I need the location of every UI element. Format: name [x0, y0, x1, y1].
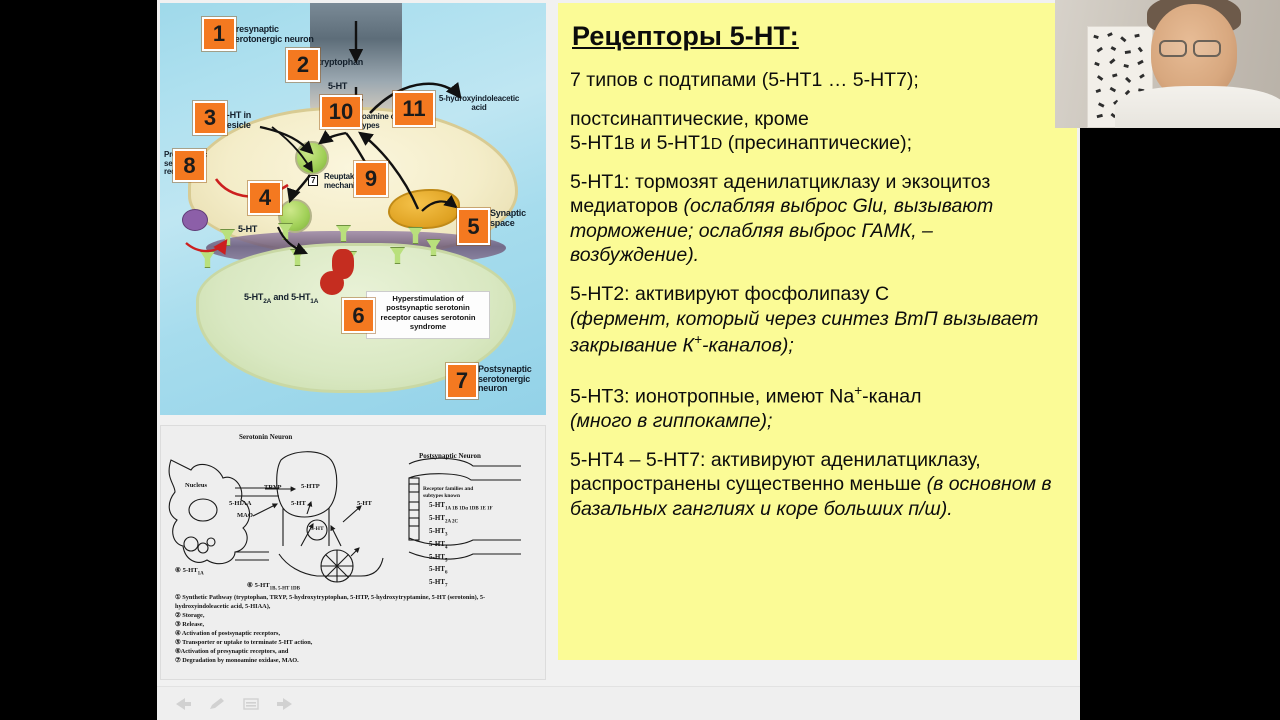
label-tryptophan: L-tryptophan	[310, 58, 394, 68]
slide-text-panel: Рецепторы 5-НТ: 7 типов с подтипами (5-Н…	[558, 3, 1077, 660]
p-5ht2-italic-tail: -каналов);	[702, 335, 794, 357]
receptor-b	[200, 251, 215, 268]
legend-line-3: ③ Release,	[175, 621, 527, 630]
receptor-item-5: 5-HT5	[429, 552, 493, 565]
receptor-item-2: 5-HT2A 2C	[429, 513, 493, 526]
postsyn-5ht1b: 5-НТ1	[570, 132, 624, 154]
diagram-badge-4[interactable]: 4	[248, 181, 282, 215]
5ht-label-a: 5-HT	[291, 500, 306, 507]
postsyn-sub-b: B	[624, 136, 635, 153]
red-receptor-lower	[320, 271, 344, 295]
pen-icon[interactable]	[207, 696, 227, 712]
receptor-families-header: Receptor families and subtypes known	[423, 486, 485, 500]
diagram-badge-11[interactable]: 11	[393, 91, 435, 127]
diagram-badge-8[interactable]: 8	[173, 149, 206, 182]
label-5ht-in-vesicle: 5-HT in vesicle	[222, 111, 274, 130]
legend-line-6: ⑥Activation of presynaptic receptors, an…	[175, 648, 527, 657]
subtype-b-main: 5-HT	[291, 292, 310, 302]
label-5ht-top: 5-HT	[328, 82, 368, 92]
presynaptic-receptor-label-1b: ⑥ 5-HT1B, 5-HT 1DB	[247, 581, 300, 591]
legend-line-4: ④ Activation of postsynaptic receptors,	[175, 630, 527, 639]
presentation-toolbar[interactable]	[157, 686, 1080, 720]
diagram-badge-2[interactable]: 2	[286, 48, 320, 82]
postsyn-line1: постсинаптические, кроме	[570, 108, 809, 130]
receptor-item-1: 5-HT1A 1B 1Dα 1DB 1E 1F	[429, 500, 493, 513]
paragraph-5ht2: 5-НТ2: активируют фосфолипазу С (фермент…	[570, 282, 1065, 358]
receptor-item-4: 5-HT4	[429, 539, 493, 552]
subtype-a-main: 5-HT	[244, 292, 263, 302]
subtype-a-sub: 2A	[263, 298, 271, 305]
subtype-b-sub: 1A	[310, 298, 318, 305]
receptor-item-3: 5-HT3	[429, 526, 493, 539]
p-5ht2-italic: (фермент, который через синтез ВтП вызыв…	[570, 308, 1038, 357]
hyperstimulation-note: Hyperstimulation of postsynaptic seroton…	[366, 291, 490, 339]
paragraph-5ht4-7: 5-НТ4 – 5-НТ7: активируют аденилатциклаз…	[570, 448, 1065, 522]
paragraph-postsynaptic: постсинаптические, кроме 5-НТ1B и 5-НТ1D…	[570, 107, 1065, 156]
p-5ht2-sup: +	[694, 332, 702, 347]
diagram-badge-6[interactable]: 6	[342, 298, 375, 333]
p-5ht3-tail: -канал	[862, 386, 921, 408]
next-slide-icon[interactable]	[275, 696, 295, 712]
presynaptic-receptor-shape	[182, 209, 208, 231]
mao-label: MAO	[237, 512, 253, 519]
receptor-subtype-list: 5-HT1A 1B 1Dα 1DB 1E 1F 5-HT2A 2C 5-HT3 …	[429, 500, 493, 590]
presenter-shirt	[1115, 86, 1280, 128]
legend-line-7: ⑦ Degradation by monoamine oxidase, MAO.	[175, 657, 527, 666]
slide-canvas: Presynaptic serotonergic neuron L-trypto…	[157, 0, 1080, 720]
presynaptic-receptor-label-1a: ⑥ 5-HT1A	[175, 566, 204, 576]
p-5ht3-main: 5-НТ3: ионотропные, имеют Na	[570, 386, 854, 408]
previous-slide-icon[interactable]	[173, 696, 193, 712]
5hiaa-label: 5-HIAA	[229, 500, 251, 507]
legend-line-2: ② Storage,	[175, 612, 527, 621]
diagram-badge-1[interactable]: 1	[202, 17, 236, 51]
schematic-legend: ① Synthetic Pathway (tryptophan, TRYP, 5…	[175, 594, 527, 666]
label-hydroxyindoleacetic-acid: 5-hydroxyindoleacetic acid	[438, 95, 520, 112]
label-synaptic-space: Synaptic space	[490, 209, 542, 228]
receptor-item-7: 5-HT7	[429, 577, 493, 590]
vesicle-upper	[295, 141, 329, 175]
p-5ht2-main: 5-НТ2: активируют фосфолипазу С	[570, 283, 889, 305]
p-5ht3-italic: (много в гиппокампе);	[570, 410, 772, 432]
legend-line-5: ⑤ Transporter or uptake to terminate 5-H…	[175, 639, 527, 648]
paragraph-types: 7 типов с подтипами (5-НТ1 … 5-НТ7);	[570, 68, 1065, 93]
label-presynaptic-neuron: Presynaptic serotonergic neuron	[230, 25, 316, 44]
screen: Presynaptic serotonergic neuron L-trypto…	[0, 0, 1280, 720]
subtype-mid: and	[271, 292, 291, 302]
serotonin-synapse-diagram: Presynaptic serotonergic neuron L-trypto…	[160, 3, 546, 415]
diagram-badge-9[interactable]: 9	[354, 161, 388, 197]
receptor-item-6: 5-HT6	[429, 564, 493, 577]
5htp-label: 5-HTP	[301, 483, 320, 490]
reuptake-number-box: 7	[308, 175, 318, 186]
tryp-label: TRYP	[264, 484, 281, 491]
postsyn-sub-d: D	[711, 136, 723, 153]
p-5ht47-main: 5-НТ4 – 5-НТ7: активируют аденилатциклаз…	[570, 449, 981, 496]
p-5ht3-sup: +	[854, 383, 862, 398]
eyeglasses-right-lens	[1193, 40, 1221, 57]
diagram-badge-3[interactable]: 3	[193, 101, 227, 135]
page-title: Рецепторы 5-НТ:	[572, 21, 1065, 52]
5ht-label-b: 5-HT	[357, 500, 372, 507]
slide-menu-icon[interactable]	[241, 696, 261, 712]
golgi-body	[388, 189, 460, 229]
diagram-badge-10[interactable]: 10	[320, 95, 362, 129]
label-5ht-cleft: 5-HT	[238, 225, 272, 235]
diagram-badge-7[interactable]: 7	[446, 363, 478, 399]
5ht-label-c: 5-HT	[311, 526, 324, 532]
postsyn-mid: и 5-НТ1	[635, 132, 711, 154]
diagram-badge-5[interactable]: 5	[457, 208, 490, 245]
serotonin-pathway-schematic: Serotonin Neuron Postsynaptic Neuron Nuc…	[160, 425, 546, 680]
paragraph-5ht3: 5-НТ3: ионотропные, имеют Na+-канал (мно…	[570, 382, 1065, 434]
legend-line-1: ① Synthetic Pathway (tryptophan, TRYP, 5…	[175, 594, 527, 612]
eyeglasses-left-lens	[1159, 40, 1187, 57]
paragraph-5ht1: 5-НТ1: тормозят аденилатциклазу и экзоци…	[570, 170, 1065, 268]
webcam-overlay[interactable]	[1055, 0, 1280, 128]
label-postsynaptic-neuron: Postsynaptic serotonergic neuron	[478, 365, 546, 394]
postsyn-tail: (пресинаптические);	[722, 132, 912, 154]
